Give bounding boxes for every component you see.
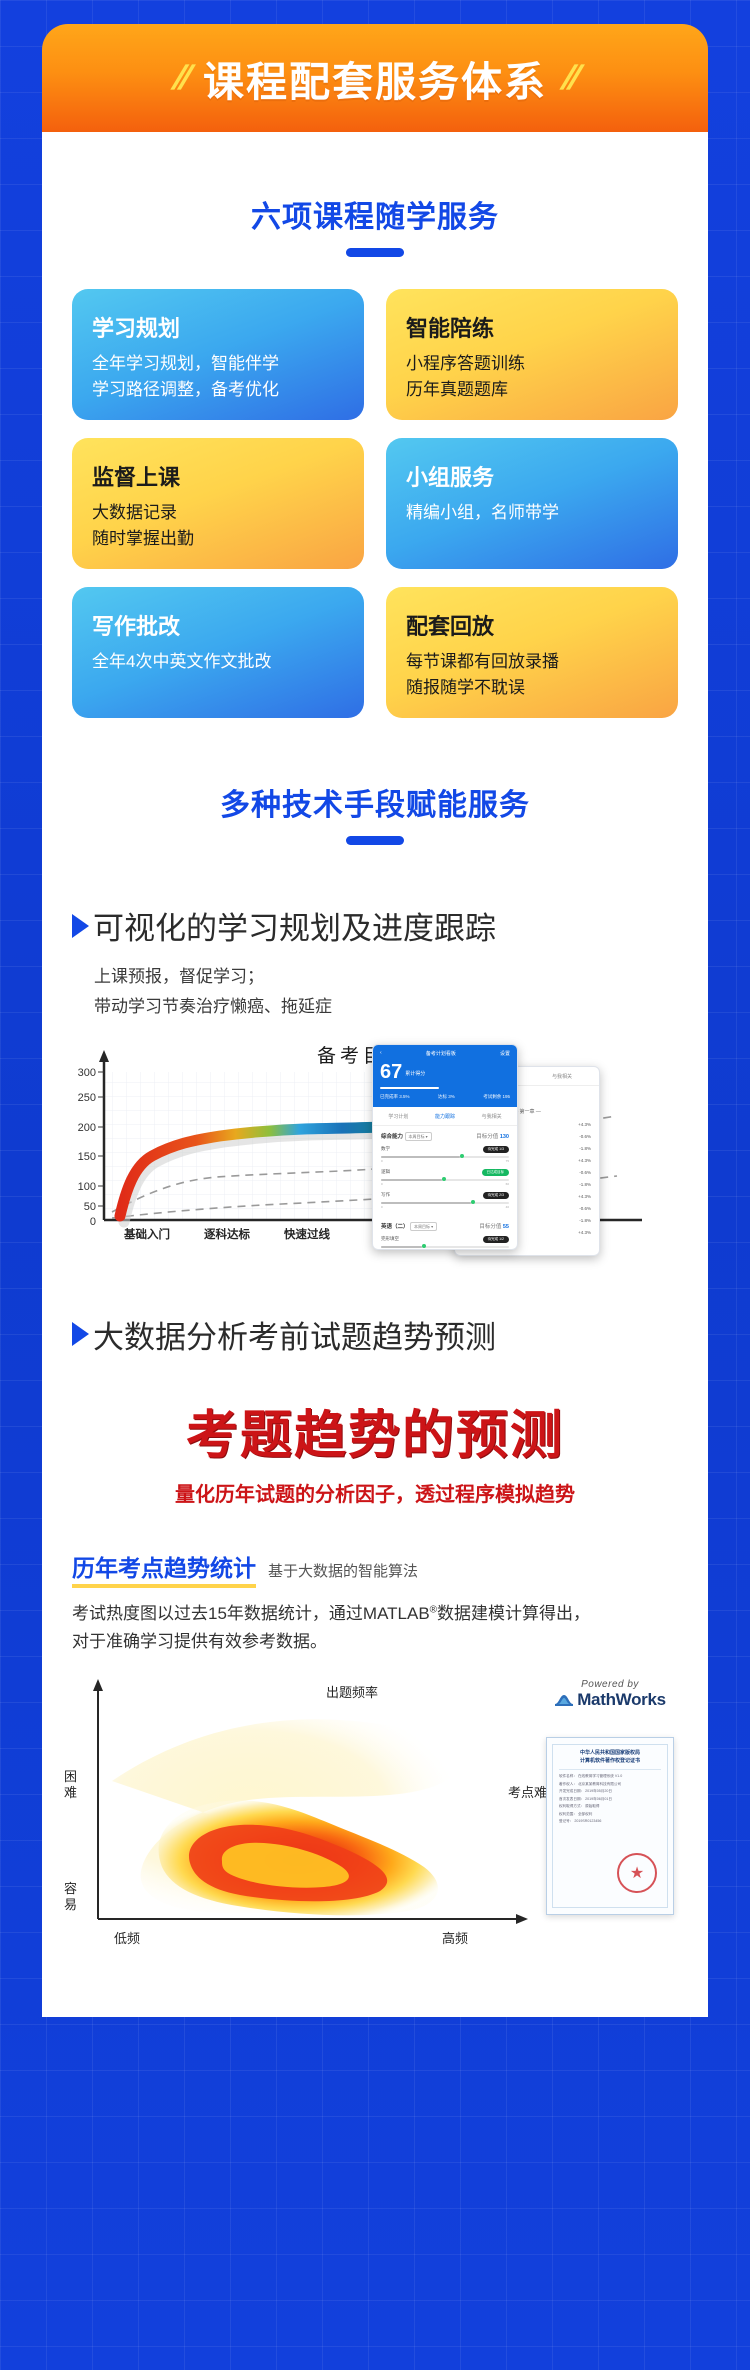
phone-b-row-value: -0.6%: [579, 1206, 591, 1212]
phone-a-total-label: 目标分值: [476, 1134, 498, 1140]
phone-a-group-a-header: 综合能力 本周目标 ▾ 目标分值 130: [381, 1132, 509, 1140]
phone-a-metric-max: 75: [506, 1159, 509, 1163]
section-one-header: 六项课程随学服务: [42, 132, 708, 257]
slash-right-icon: //: [543, 59, 596, 98]
certificate-row: 开发完成日期： 2019年05月20日: [559, 1789, 661, 1794]
svg-text:0: 0: [90, 1216, 96, 1228]
phone-a-metric-label: 逻辑: [381, 1169, 390, 1175]
phone-b-row-value: -1.8%: [579, 1218, 591, 1224]
phone-a-nav-action[interactable]: 设置: [500, 1050, 510, 1057]
phone-a-metric-pill[interactable]: 待完成 1/2: [483, 1236, 509, 1243]
certificate-row: 著作权人： 北京某某教育科技有限公司: [559, 1782, 661, 1787]
mathworks-name: MathWorks: [577, 1690, 666, 1710]
goal-chart-xtick: 基础入门: [123, 1227, 170, 1241]
phone-a-metric: 完形填空待完成 1/2 010: [381, 1236, 509, 1250]
phone-a-progress-bar: [380, 1087, 439, 1089]
stats-subtitle: 基于大数据的智能算法: [268, 1560, 418, 1581]
service-card[interactable]: 配套回放 每节课都有回放录播 随报随学不耽误: [386, 587, 678, 718]
phone-b-row-value: -1.8%: [579, 1146, 591, 1152]
phone-a-stat: 达标 3%: [438, 1094, 455, 1100]
certificate-seal-icon: ★: [617, 1853, 657, 1893]
certificate-row: 登记号： 2019SR0123456: [559, 1819, 661, 1824]
phone-a-total-value: 130: [500, 1134, 509, 1140]
phone-a-metric-max: 10: [506, 1249, 509, 1250]
stats-heading: 历年考点趋势统计 基于大数据的智能算法: [42, 1549, 708, 1588]
service-card-line2: 随时掌握出勤: [92, 526, 344, 552]
section-two-underline: [346, 836, 404, 845]
phone-b-row-value: +4.3%: [578, 1194, 591, 1200]
phone-a-group-name: 英语（二）: [381, 1224, 409, 1230]
block-one-title: 可视化的学习规划及进度跟踪: [93, 903, 496, 948]
phone-a-metric: 逻辑已达成目标 060: [381, 1169, 509, 1186]
phone-b-row-value: -1.8%: [579, 1182, 591, 1188]
block-one-heading: 可视化的学习规划及进度跟踪: [42, 903, 708, 948]
phone-b-row-value: +4.3%: [578, 1158, 591, 1164]
phone-a-score: 67累计得分: [380, 1062, 510, 1082]
service-card-title: 智能陪练: [406, 311, 658, 343]
certificate-divider: [559, 1769, 661, 1770]
phone-b-row-value: -0.6%: [579, 1134, 591, 1140]
phone-b-tab[interactable]: 与我相关: [552, 1073, 572, 1080]
mathworks-badge: Powered by MathWorks: [546, 1679, 674, 1710]
phone-a-score-value: 67: [380, 1061, 402, 1083]
phone-a-metric-pill[interactable]: 待完成 2/3: [483, 1192, 509, 1199]
service-card[interactable]: 监督上课 大数据记录 随时掌握出勤: [72, 438, 364, 569]
sheet-bottom-spacer: [42, 1971, 708, 2017]
service-card-title: 监督上课: [92, 460, 344, 492]
heatmap-xtick: 高频: [442, 1931, 468, 1946]
phone-a-metric-min: 0: [381, 1159, 383, 1163]
phone-b-row-value: +4.3%: [578, 1122, 591, 1128]
service-card[interactable]: 写作批改 全年4次中英文作文批改: [72, 587, 364, 718]
service-card-grid: 学习规划 全年学习规划，智能伴学 学习路径调整，备考优化 智能陪练 小程序答题训…: [42, 289, 708, 718]
registered-mark-icon: ®: [430, 1604, 437, 1615]
block-one-sub-line1: 上课预报，督促学习；: [94, 962, 678, 992]
service-card-line1: 全年学习规划，智能伴学: [92, 351, 344, 377]
block-two-heading: 大数据分析考前试题趋势预测: [42, 1312, 708, 1357]
phone-a-group-b-header: 英语（二） 本周目标 ▾ 目标分值 55: [381, 1222, 509, 1230]
heatmap-chart: 出题频率 考点难度 困 难 容 易 低频 高频 Powered by Mat: [42, 1671, 708, 1971]
stats-title: 历年考点趋势统计: [72, 1549, 256, 1588]
stats-body-line2: 对于准确学习提供有效参考数据。: [72, 1628, 678, 1657]
svg-text:100: 100: [78, 1181, 96, 1193]
phone-a-metric-max: 60: [506, 1182, 509, 1186]
section-two-title: 多种技术手段赋能服务: [42, 780, 708, 824]
service-card-line2: 学习路径调整，备考优化: [92, 377, 344, 403]
mathworks-logo-icon: [554, 1691, 574, 1709]
stats-body: 考试热度图以过去15年数据统计，通过MATLAB®数据建模计算得出， 对于准确学…: [42, 1588, 708, 1658]
service-card-line1: 每节课都有回放录播: [406, 649, 658, 675]
heatmap-ytick: 难: [64, 1785, 77, 1800]
phone-a-total-value: 55: [503, 1224, 509, 1230]
triangle-right-icon: [72, 1322, 89, 1346]
phone-a-header: ‹ 备考计划看板 设置 67累计得分 已完成率 3.5% 达标 3% 考试剩余 …: [373, 1045, 517, 1107]
slash-left-icon: //: [154, 59, 207, 98]
phone-a-metric-label: 完形填空: [381, 1236, 399, 1242]
phone-a-navbar: ‹ 备考计划看板 设置: [380, 1050, 510, 1057]
svg-text:250: 250: [78, 1092, 96, 1104]
service-card-title: 小组服务: [406, 460, 658, 492]
service-card-line1: 大数据记录: [92, 500, 344, 526]
phone-a-tabs[interactable]: 学习计划 能力跟踪 与我相关: [373, 1107, 517, 1126]
svg-text:300: 300: [78, 1067, 96, 1079]
certificate-row: 权利取得方式： 原始取得: [559, 1804, 661, 1809]
page-banner: // 课程配套服务体系 //: [42, 24, 708, 132]
phone-a-group-chip[interactable]: 本周目标 ▾: [405, 1132, 432, 1141]
service-card-title: 配套回放: [406, 609, 658, 641]
service-card-title: 学习规划: [92, 311, 344, 343]
service-card[interactable]: 学习规划 全年学习规划，智能伴学 学习路径调整，备考优化: [72, 289, 364, 420]
phone-a-total-label: 目标分值: [479, 1224, 501, 1230]
heatmap-ytick: 困: [64, 1769, 77, 1784]
block-two-title: 大数据分析考前试题趋势预测: [93, 1312, 496, 1357]
heatmap-ytick: 易: [64, 1897, 77, 1912]
phone-a-metric-pill[interactable]: 待完成 1/3: [483, 1146, 509, 1153]
phone-a-group-a: 综合能力 本周目标 ▾ 目标分值 130 数学待完成 1/3 075 逻辑已达成…: [373, 1126, 517, 1209]
goal-chart: 300 250 200 150 100 50 0 备考目标看板: [42, 1040, 708, 1270]
triangle-right-icon: [72, 914, 89, 938]
mathworks-powered-label: Powered by: [546, 1679, 674, 1690]
phone-a-tab[interactable]: 学习计划: [388, 1113, 408, 1120]
certificate-row: 首次发表日期： 2019年06月01日: [559, 1797, 661, 1802]
block-one-subtext: 上课预报，督促学习； 带动学习节奏治疗懒癌、拖延症: [42, 948, 708, 1022]
stats-body-part2: 数据建模计算得出，: [437, 1604, 590, 1623]
phone-a-tab[interactable]: 与我相关: [482, 1113, 502, 1120]
phone-a-group-name: 综合能力: [381, 1134, 403, 1140]
section-one-underline: [346, 248, 404, 257]
content-sheet: 六项课程随学服务 学习规划 全年学习规划，智能伴学 学习路径调整，备考优化 智能…: [42, 132, 708, 2017]
phone-a-stat: 已完成率 3.5%: [380, 1094, 410, 1100]
section-one-title: 六项课程随学服务: [42, 192, 708, 236]
certificate-row: 权利范围： 全部权利: [559, 1812, 661, 1817]
phone-a-metric-min: 0: [381, 1205, 383, 1209]
svg-text:200: 200: [78, 1122, 96, 1134]
svg-text:50: 50: [84, 1201, 96, 1213]
heatmap-ytick: 容: [64, 1881, 77, 1896]
block-one-sub-line2: 带动学习节奏治疗懒癌、拖延症: [94, 992, 678, 1022]
certificate-title2: 计算机软件著作权登记证书: [557, 1758, 663, 1766]
service-card-line1: 精编小组，名师带学: [406, 500, 658, 526]
red-title-block: 考题趋势的预测 量化历年试题的分析因子，透过程序模拟趋势: [42, 1393, 708, 1507]
service-card[interactable]: 小组服务 精编小组，名师带学: [386, 438, 678, 569]
goal-chart-xtick: 逐科达标: [204, 1227, 250, 1241]
phone-a-stat: 考试剩余 195: [483, 1094, 510, 1100]
service-card-line2: 历年真题题库: [406, 377, 658, 403]
svg-text:150: 150: [78, 1151, 96, 1163]
phone-a-nav-title: 备考计划看板: [426, 1050, 456, 1057]
certificate-inner: 中华人民共和国国家版权局 计算机软件著作权登记证书 软件名称： 在线教育学习管理…: [552, 1744, 668, 1908]
red-subheadline: 量化历年试题的分析因子，透过程序模拟趋势: [42, 1478, 708, 1507]
phone-b-row-value: +4.3%: [578, 1230, 591, 1236]
phone-screenshot-primary: ‹ 备考计划看板 设置 67累计得分 已完成率 3.5% 达标 3% 考试剩余 …: [372, 1044, 518, 1250]
phone-a-metric: 写作待完成 2/3 040: [381, 1192, 509, 1209]
phone-a-group-b: 英语（二） 本周目标 ▾ 目标分值 55 完形填空待完成 1/2 010 阅读理…: [373, 1216, 517, 1250]
phone-a-metric-pill[interactable]: 已达成目标: [482, 1169, 510, 1176]
heatmap-x-axis-title: 出题频率: [326, 1685, 378, 1700]
page-title: 课程配套服务体系: [203, 48, 547, 108]
phone-b-row-value: -0.6%: [579, 1170, 591, 1176]
phone-a-metric-label: 数学: [381, 1146, 390, 1152]
phone-a-group-chip[interactable]: 本周目标 ▾: [410, 1222, 437, 1231]
section-two-header: 多种技术手段赋能服务: [42, 718, 708, 845]
phone-a-metric-min: 0: [381, 1182, 383, 1186]
service-card-title: 写作批改: [92, 609, 344, 641]
service-card[interactable]: 智能陪练 小程序答题训练 历年真题题库: [386, 289, 678, 420]
stats-body-part1: 考试热度图以过去15年数据统计，通过MATLAB: [72, 1604, 430, 1623]
back-icon[interactable]: ‹: [380, 1050, 382, 1056]
certificate-image: 中华人民共和国国家版权局 计算机软件著作权登记证书 软件名称： 在线教育学习管理…: [546, 1737, 674, 1915]
phone-a-score-unit: 累计得分: [405, 1071, 425, 1077]
certificate-row: 软件名称： 在线教育学习管理系统 V1.0: [559, 1774, 661, 1779]
phone-a-tab-active[interactable]: 能力跟踪: [435, 1113, 455, 1120]
stats-body-line1: 考试热度图以过去15年数据统计，通过MATLAB®数据建模计算得出，: [72, 1600, 678, 1629]
service-card-line1: 小程序答题训练: [406, 351, 658, 377]
phone-a-metric-label: 写作: [381, 1192, 390, 1198]
phone-a-metric-max: 40: [506, 1205, 509, 1209]
poster-page: // 课程配套服务体系 // 六项课程随学服务 学习规划 全年学习规划，智能伴学…: [0, 0, 750, 2370]
phone-a-metric: 数学待完成 1/3 075: [381, 1146, 509, 1163]
red-headline: 考题趋势的预测: [42, 1393, 708, 1468]
phone-a-stats: 已完成率 3.5% 达标 3% 考试剩余 195: [380, 1094, 510, 1100]
service-card-line2: 随报随学不耽误: [406, 675, 658, 701]
heatmap-xtick: 低频: [114, 1931, 140, 1946]
phone-a-metric-min: 0: [381, 1249, 383, 1250]
goal-chart-xtick: 快速过线: [283, 1227, 330, 1241]
service-card-line1: 全年4次中英文作文批改: [92, 649, 344, 675]
certificate-title: 中华人民共和国国家版权局: [557, 1750, 663, 1758]
